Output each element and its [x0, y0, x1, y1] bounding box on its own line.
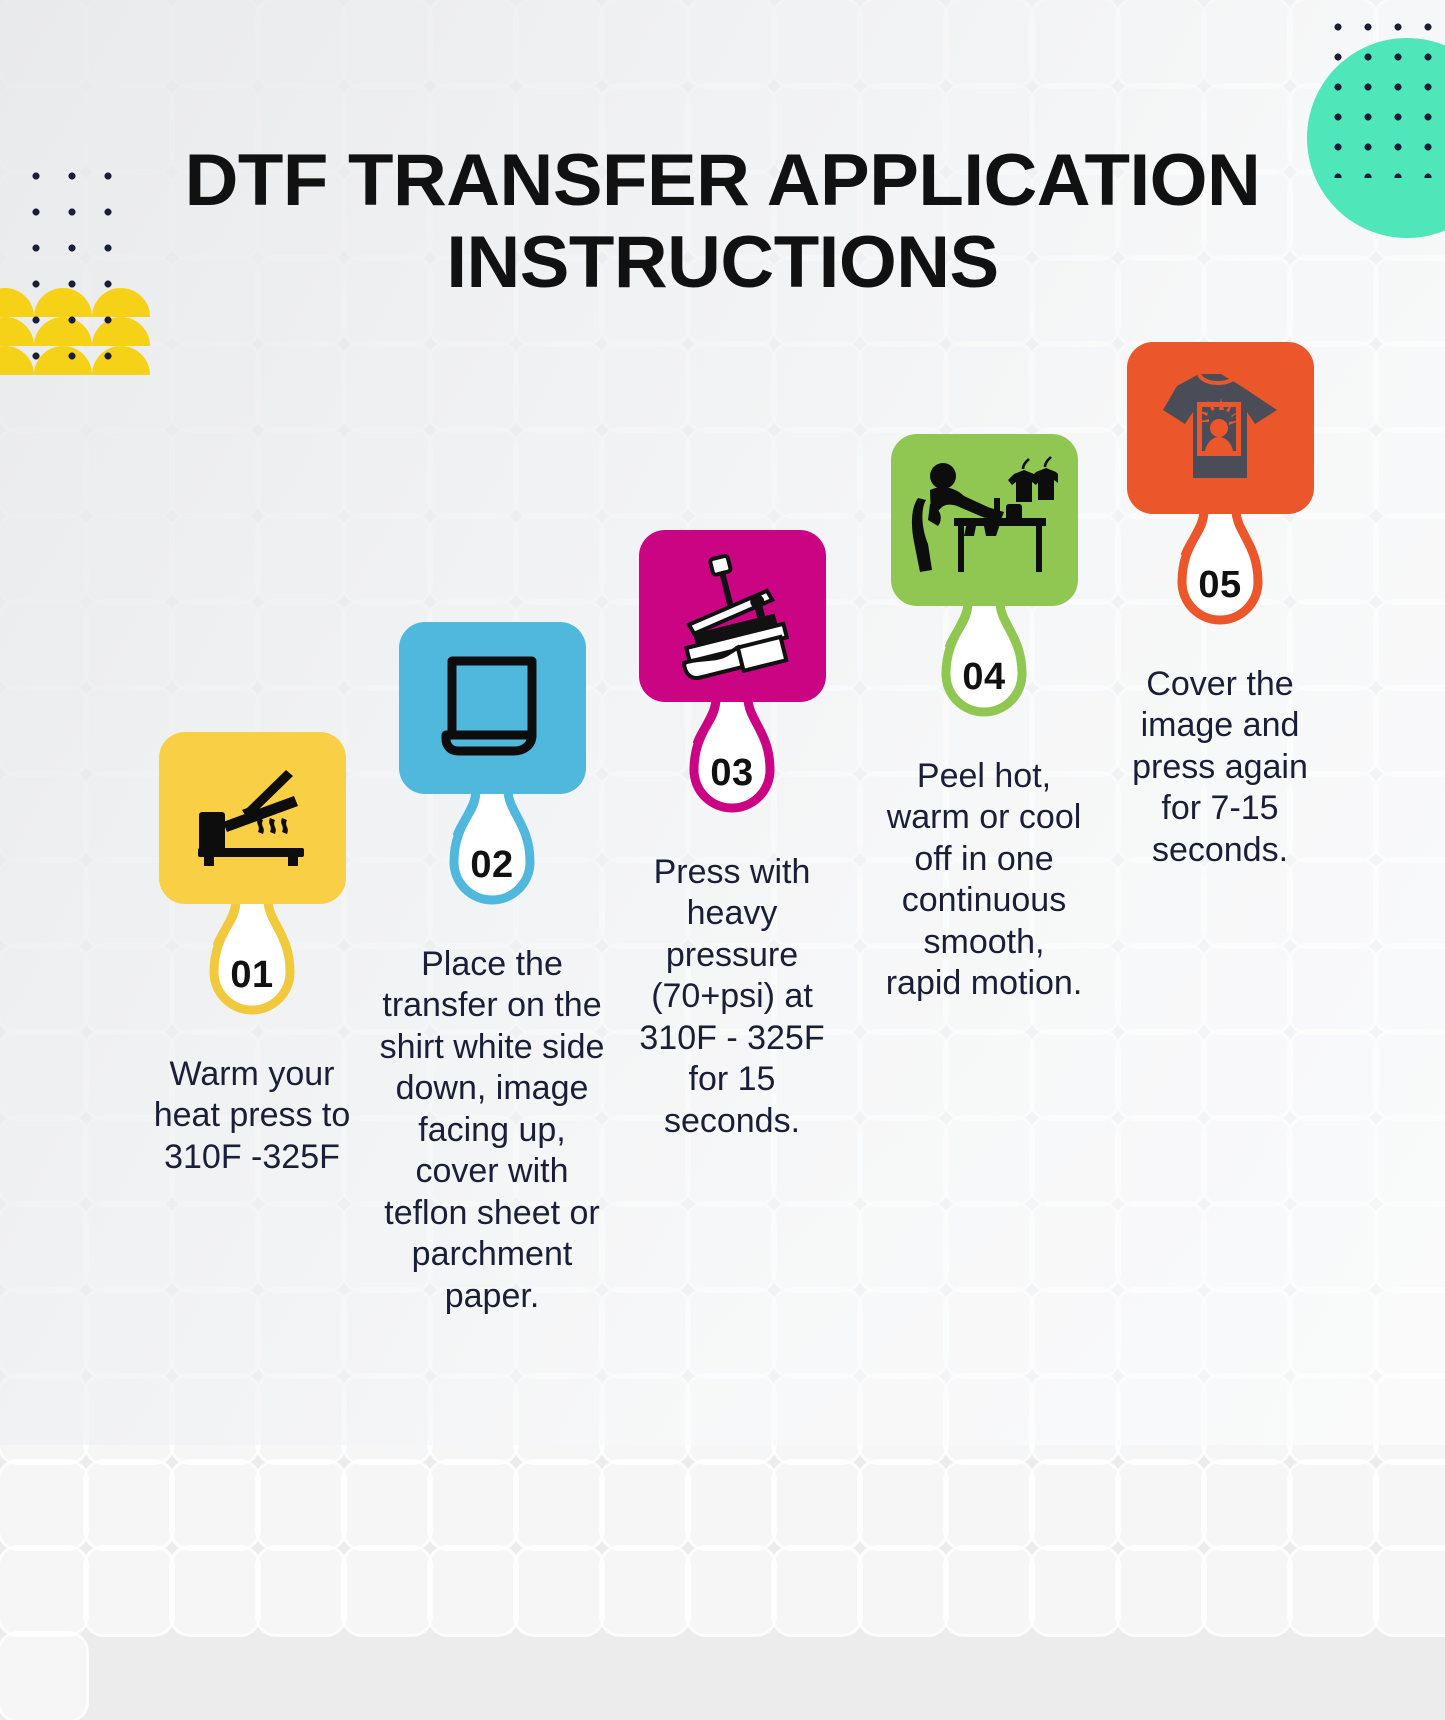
- step-card-03[interactable]: [639, 530, 826, 702]
- step-caption-02: Place the transfer on the shirt white si…: [372, 944, 612, 1317]
- step-item-02: 02 Place the transfer on the shirt white…: [372, 622, 612, 1317]
- background-tile: [1118, 1462, 1204, 1548]
- background-tile: [0, 1548, 86, 1634]
- background-tile: [860, 1548, 946, 1634]
- transfer-sheet-icon: [436, 653, 548, 763]
- step-connector-05: 05: [1160, 510, 1280, 650]
- background-tile: [1204, 1462, 1290, 1548]
- background-tile: [344, 1548, 430, 1634]
- background-tile: [1290, 1462, 1376, 1548]
- step-number-02: 02: [432, 844, 552, 887]
- background-tile: [258, 1548, 344, 1634]
- step-connector-04: 04: [924, 602, 1044, 742]
- background-tile: [1290, 1548, 1376, 1634]
- background-tile: [602, 1548, 688, 1634]
- step-item-05: 05 Cover the image and press again for 7…: [1100, 342, 1340, 871]
- background-tile: [946, 1462, 1032, 1548]
- background-tile: [1032, 1548, 1118, 1634]
- background-tile: [860, 1462, 946, 1548]
- background-tile: [258, 1462, 344, 1548]
- step-connector-02: 02: [432, 790, 552, 930]
- peel-transfer-person-icon: [910, 456, 1058, 584]
- step-card-05[interactable]: [1127, 342, 1314, 514]
- steps-container: 01 Warm your heat press to 310F -325F 02…: [0, 0, 1445, 1445]
- background-tile: [516, 1548, 602, 1634]
- background-tile: [430, 1548, 516, 1634]
- background-tile: [688, 1548, 774, 1634]
- step-connector-03: 03: [672, 698, 792, 838]
- background-tile: [774, 1462, 860, 1548]
- background-tile: [344, 1462, 430, 1548]
- step-card-02[interactable]: [399, 622, 586, 794]
- step-number-05: 05: [1160, 564, 1280, 607]
- background-tile: [86, 1462, 172, 1548]
- step-number-04: 04: [924, 656, 1044, 699]
- step-item-04: 04 Peel hot, warm or cool off in one con…: [864, 434, 1104, 1005]
- heat-press-open-icon: [190, 766, 314, 870]
- background-tile: [1376, 1548, 1445, 1634]
- heat-press-machine-icon: [668, 552, 796, 680]
- background-tile: [430, 1462, 516, 1548]
- step-card-01[interactable]: [159, 732, 346, 904]
- step-caption-01: Warm your heat press to 310F -325F: [145, 1054, 360, 1178]
- background-tile: [1376, 1462, 1445, 1548]
- background-tile: [774, 1548, 860, 1634]
- background-tile: [1204, 1548, 1290, 1634]
- background-tile: [946, 1548, 1032, 1634]
- background-tile: [516, 1462, 602, 1548]
- background-tile: [1118, 1548, 1204, 1634]
- background-tile: [172, 1548, 258, 1634]
- step-number-01: 01: [192, 954, 312, 997]
- step-number-03: 03: [672, 752, 792, 795]
- step-item-03: 03 Press with heavy pressure (70+psi) at…: [612, 530, 852, 1142]
- step-connector-01: 01: [192, 900, 312, 1040]
- background-tile: [0, 1634, 86, 1720]
- printed-tshirt-icon: [1155, 366, 1285, 490]
- step-card-04[interactable]: [891, 434, 1078, 606]
- step-caption-05: Cover the image and press again for 7-15…: [1120, 664, 1320, 871]
- step-item-01: 01 Warm your heat press to 310F -325F: [132, 732, 372, 1178]
- background-tile: [1032, 1462, 1118, 1548]
- background-tile: [0, 1462, 86, 1548]
- background-tile: [688, 1462, 774, 1548]
- background-tile: [86, 1548, 172, 1634]
- background-tile: [602, 1462, 688, 1548]
- step-caption-04: Peel hot, warm or cool off in one contin…: [884, 756, 1084, 1005]
- background-tile: [172, 1462, 258, 1548]
- step-caption-03: Press with heavy pressure (70+psi) at 31…: [620, 852, 845, 1142]
